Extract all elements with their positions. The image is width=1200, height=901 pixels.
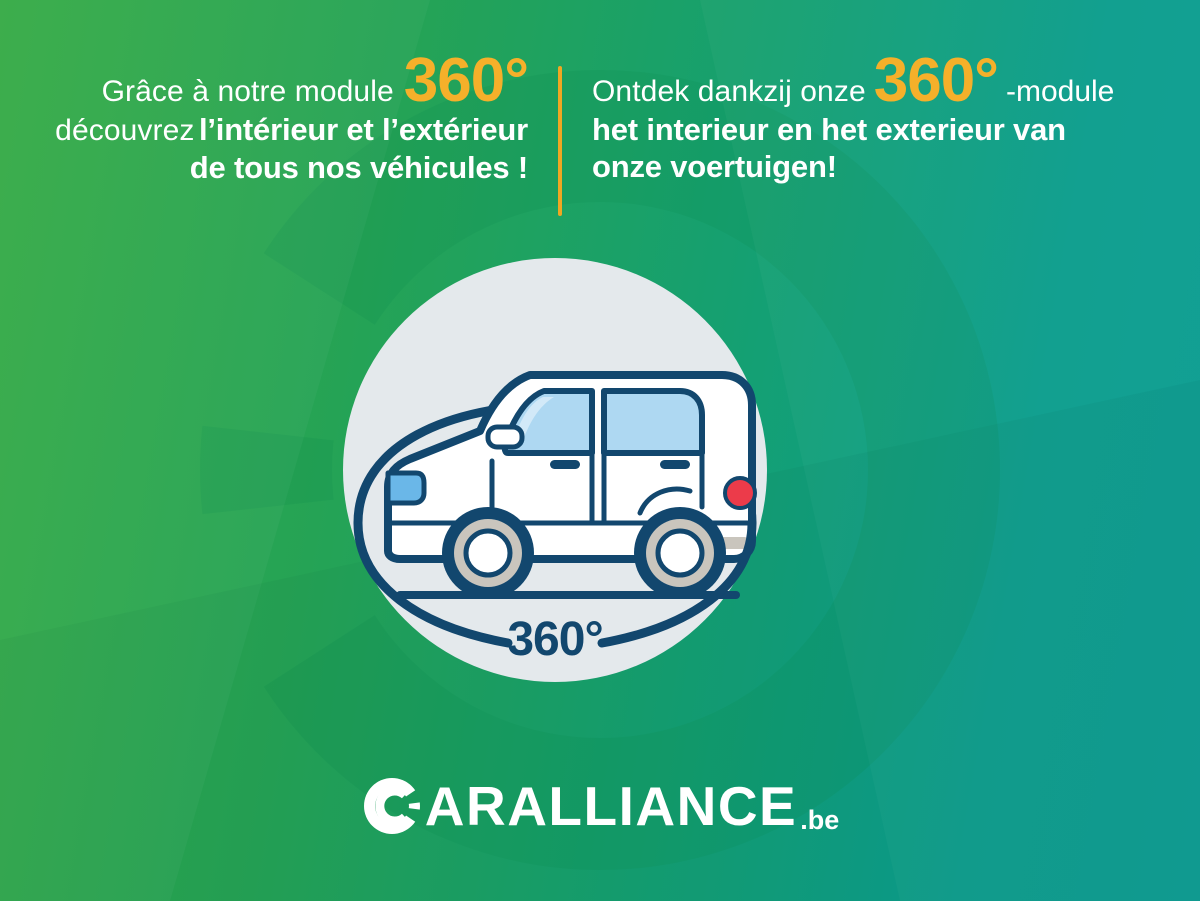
vehicle-360-illustration: 360°: [340, 255, 790, 705]
logo-tld: .be: [800, 807, 839, 834]
dutch-line3-bold: onze voertuigen!: [592, 149, 837, 184]
wheel-front: [442, 507, 534, 599]
french-line-2: découvrez l’intérieur et l’extérieur: [52, 111, 528, 150]
side-window: [604, 391, 702, 453]
brand-logo[interactable]: ARALLIANCE .be: [0, 775, 1200, 837]
dutch-line1-suffix: -module: [1006, 74, 1114, 111]
taillight: [725, 478, 755, 508]
headline-band: Grâce à notre module 360° découvrez l’in…: [0, 56, 1200, 216]
side-mirror: [488, 427, 522, 447]
wheel-rear: [634, 507, 726, 599]
french-line-1: Grâce à notre module 360°: [52, 56, 528, 111]
caralliance-c-icon: [361, 775, 423, 837]
headline-dutch: Ontdek dankzij onze 360° -module het int…: [562, 56, 1152, 186]
headlight: [388, 473, 424, 503]
dutch-degree-badge: 360°: [874, 56, 998, 106]
dutch-line-1: Ontdek dankzij onze 360° -module: [592, 56, 1148, 111]
dutch-line1-prefix: Ontdek dankzij onze: [592, 74, 866, 111]
french-line2-light: découvrez: [55, 114, 194, 147]
french-degree-badge: 360°: [404, 56, 528, 106]
door-handle-front: [550, 460, 580, 469]
dutch-line-2: het interieur en het exterieur van: [592, 111, 1148, 149]
headline-french: Grâce à notre module 360° découvrez l’in…: [48, 56, 558, 187]
french-line2-bold: l’intérieur et l’extérieur: [199, 112, 528, 147]
french-line3-bold: de tous nos véhicules !: [190, 150, 528, 185]
door-handle-rear: [660, 460, 690, 469]
logo-wordmark: ARALLIANCE: [425, 779, 797, 834]
dutch-line2-bold: het interieur en het exterieur van: [592, 112, 1066, 147]
french-line1-prefix: Grâce à notre module: [102, 74, 394, 111]
dutch-line-3: onze voertuigen!: [592, 148, 1148, 186]
french-line-3: de tous nos véhicules !: [52, 149, 528, 187]
promo-banner: Grâce à notre module 360° découvrez l’in…: [0, 0, 1200, 901]
orbit-360-label: 360°: [507, 613, 602, 666]
